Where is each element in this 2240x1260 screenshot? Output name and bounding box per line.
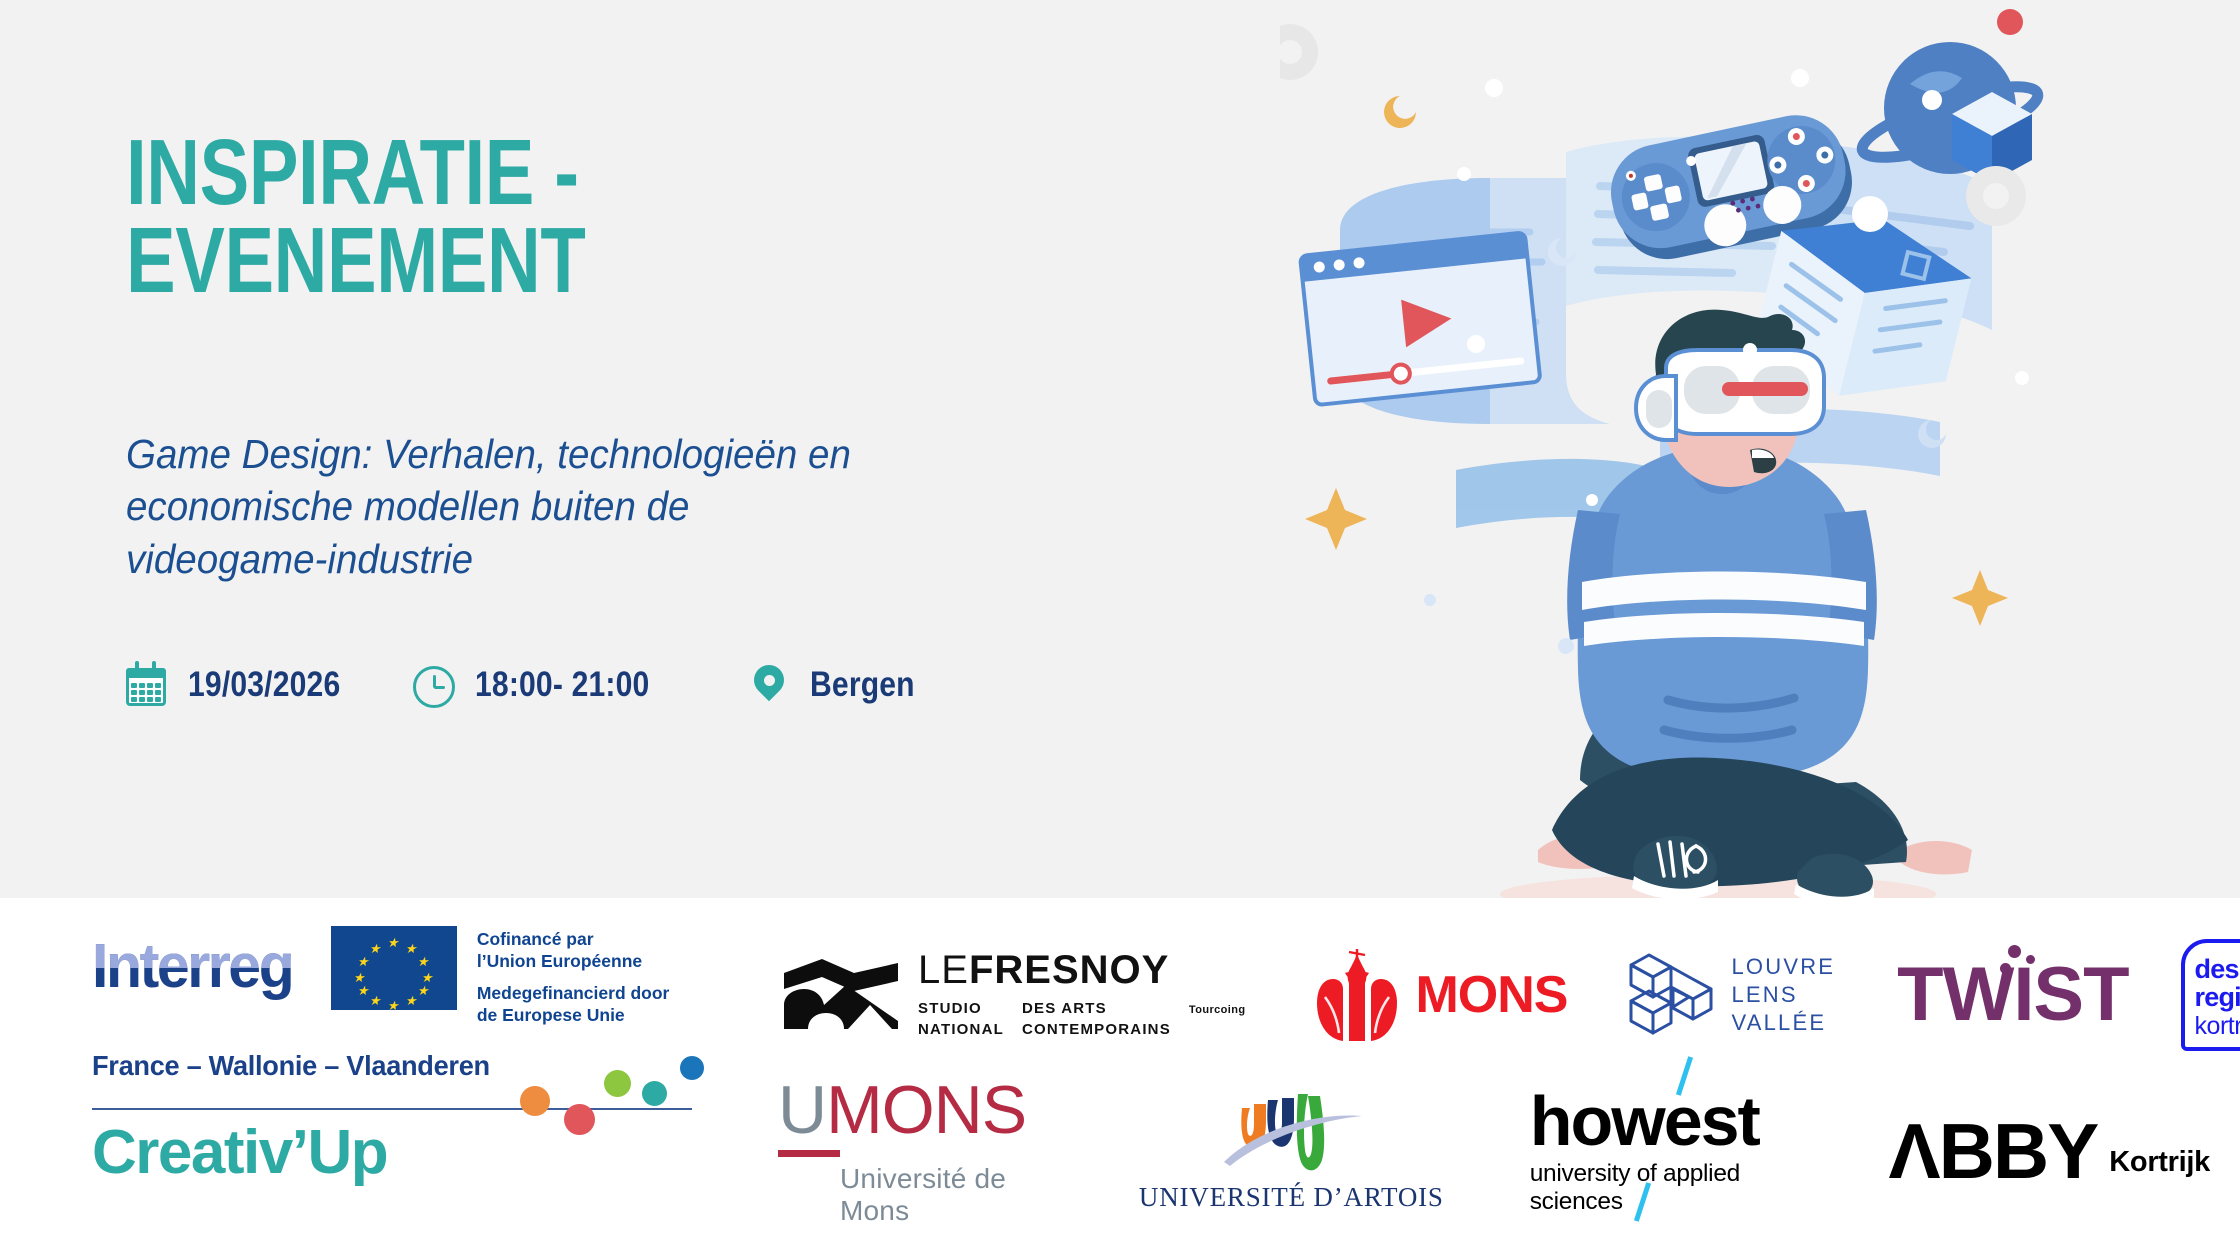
event-location: Bergen: [810, 665, 915, 705]
event-meta-row: 19/03/2026 18:00- 21:00 Bergen: [122, 660, 932, 710]
meta-time: 18:00- 21:00: [409, 660, 678, 710]
logo-abby-kortrijk: ΛBBY Kortrijk: [1889, 1114, 2210, 1188]
umons-subtitle: Université de Mons: [840, 1163, 1049, 1227]
calendar-icon: [122, 660, 172, 710]
abby-city: Kortrijk: [2109, 1146, 2210, 1179]
page-title: INSPIRATIE - EVENEMENT: [126, 128, 846, 305]
artois-mark: [1216, 1090, 1366, 1176]
event-time: 18:00- 21:00: [475, 665, 649, 705]
mons-belfry-icon: [1315, 949, 1401, 1041]
partners-grid: LEFRESNOY STUDIO NATIONAL DES ARTS CONTE…: [760, 918, 2210, 1248]
event-poster: INSPIRATIE - EVENEMENT Game Design: Verh…: [0, 0, 2240, 1260]
le-fresnoy-mark: [782, 959, 900, 1031]
drk-line-1: design: [2195, 955, 2240, 983]
partners-row-2: UMONS Université de Mons UNIVERSITÉ D’AR…: [760, 1086, 2210, 1216]
fresnoy-sub-2: DES ARTS CONTEMPORAINS: [1022, 999, 1171, 1040]
umons-underline: [778, 1150, 840, 1157]
decorative-dot-4: [642, 1081, 667, 1106]
fresnoy-sub-1: STUDIO NATIONAL: [918, 999, 1004, 1040]
drk-line-3: kortrijk: [2195, 1013, 2240, 1039]
umons-u: U: [778, 1072, 826, 1148]
logo-le-fresnoy: LEFRESNOY STUDIO NATIONAL DES ARTS CONTE…: [782, 950, 1245, 1040]
logo-twist: TWIST: [1897, 957, 2128, 1033]
logo-louvre-lens-vallee: LOUVRE LENS VALLÉE: [1627, 951, 1835, 1039]
event-subtitle: Game Design: Verhalen, technologieën en …: [126, 428, 878, 585]
drk-line-2: regio: [2195, 983, 2240, 1011]
eu-funding-text: Cofinancé par l’Union Européenne Medegef…: [477, 928, 670, 1026]
eu-funding-nl: Medegefinancierd door de Europese Unie: [477, 982, 670, 1026]
decorative-dot-1: [520, 1086, 550, 1116]
howest-subtitle: university of applied sciences: [1530, 1160, 1805, 1216]
louvre-lens-vallee-wordmark: LOUVRE LENS VALLÉE: [1731, 953, 1835, 1037]
partner-logo-bar: Interreg Interreg ★ ★ ★ ★ ★ ★ ★ ★ ★ ★ ★ …: [0, 898, 2240, 1260]
creativup-wordmark: Creativ’Up: [92, 1120, 712, 1185]
logo-design-regio-kortrijk: design regio kortrijk: [2181, 939, 2210, 1051]
eu-funding-fr: Cofinancé par l’Union Européenne: [477, 928, 670, 972]
decorative-dot-5: [680, 1056, 704, 1080]
european-union-flag: ★ ★ ★ ★ ★ ★ ★ ★ ★ ★ ★ ★: [331, 926, 457, 1010]
logo-howest: howest university of applied sciences: [1530, 1086, 1805, 1216]
twist-bubbles-icon: [1992, 943, 2044, 983]
logo-mons: MONS: [1315, 949, 1567, 1041]
logo-umons: UMONS Université de Mons: [778, 1076, 1049, 1227]
partners-row-1: LEFRESNOY STUDIO NATIONAL DES ARTS CONTE…: [760, 930, 2210, 1060]
hero-section: INSPIRATIE - EVENEMENT Game Design: Verh…: [0, 0, 2240, 898]
louvre-lens-vallee-mark: [1627, 951, 1715, 1039]
map-pin-icon: [744, 660, 794, 710]
fresnoy-name: FRESNOY: [969, 948, 1169, 992]
interreg-wordmark: Interreg Interreg: [92, 936, 292, 998]
hero-text-block: INSPIRATIE - EVENEMENT: [126, 128, 1026, 305]
decorative-dot-3: [604, 1070, 631, 1097]
event-date: 19/03/2026: [188, 665, 340, 705]
meta-date: 19/03/2026: [122, 660, 365, 710]
fresnoy-le: LE: [918, 948, 969, 992]
umons-mons: MONS: [826, 1072, 1026, 1148]
fresnoy-city: Tourcoing: [1189, 1003, 1246, 1018]
meta-location: Bergen: [744, 660, 932, 710]
howest-wordmark: howest: [1530, 1086, 1759, 1156]
abby-wordmark: ΛBBY: [1889, 1114, 2098, 1188]
artois-wordmark: UNIVERSITÉ D’ARTOIS: [1139, 1182, 1444, 1213]
clock-icon: [409, 660, 459, 710]
mons-wordmark: MONS: [1415, 969, 1567, 1021]
logo-universite-artois: UNIVERSITÉ D’ARTOIS: [1139, 1090, 1444, 1213]
vr-gamer-illustration: [1280, 0, 2060, 898]
decorative-dot-2: [564, 1104, 595, 1135]
decorative-dots: [512, 1046, 712, 1126]
